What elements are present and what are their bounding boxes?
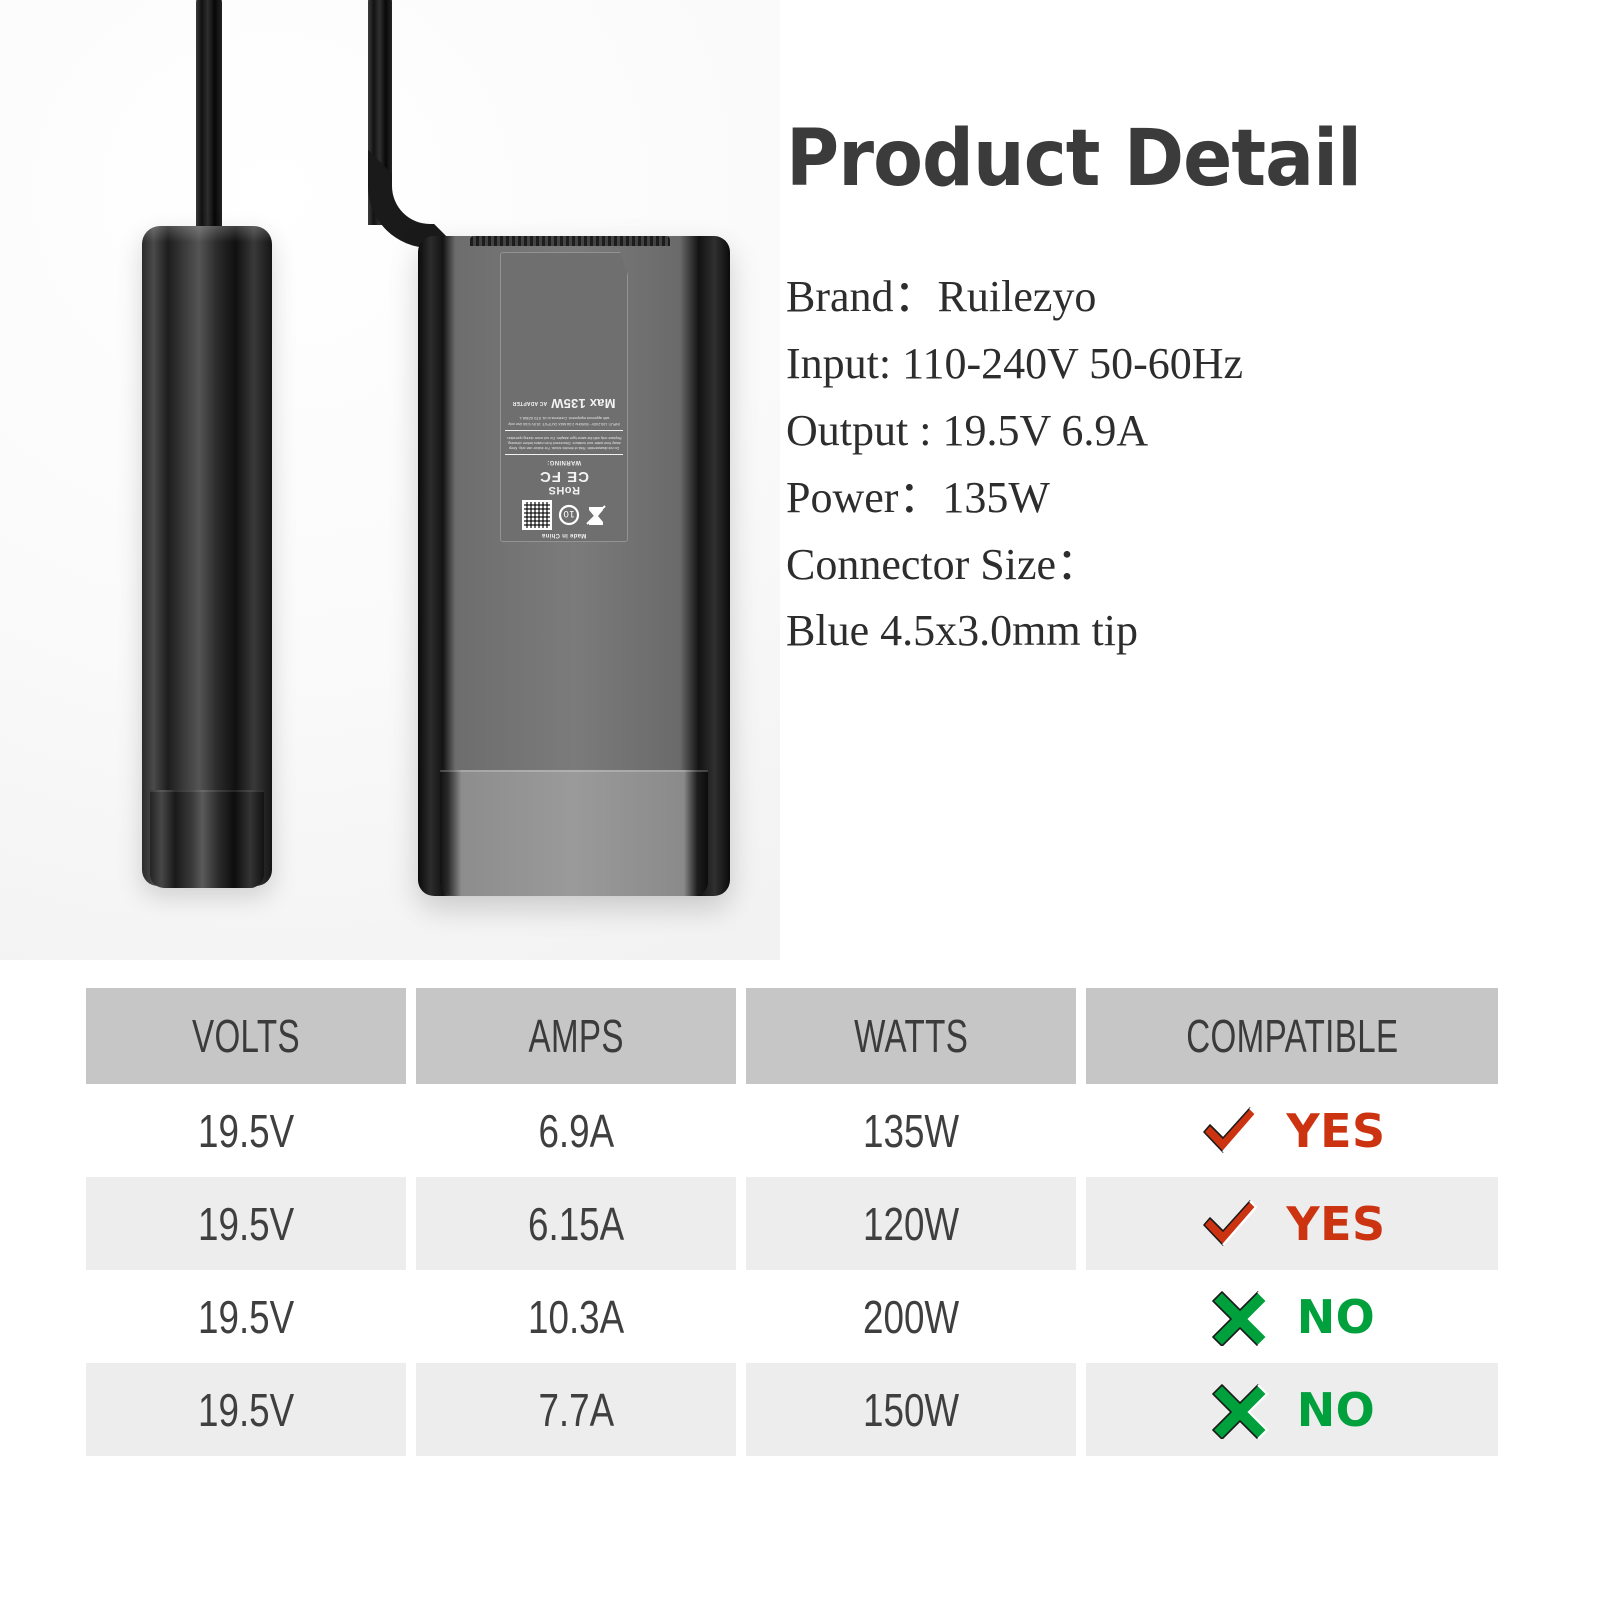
table-header-row: VOLTS AMPS WATTS COMPATIBLE [86,988,1498,1084]
cross-mark-icon [1209,1288,1271,1346]
column-header-watts: WATTS [746,988,1076,1084]
label-fine-print-2: INPUT: 100-240V~ 50/60Hz 2.0A MAX OUTPUT… [501,415,627,425]
compatibility-table: VOLTS AMPS WATTS COMPATIBLE 19.5V 6.9A 1… [86,988,1498,1456]
label-rohs: RoHS [501,484,627,496]
ac-adapter-bottom-band [440,770,708,896]
cell-watts: 120W [746,1177,1076,1270]
cell-volts: 19.5V [86,1084,406,1177]
cell-watts: 135W [746,1084,1076,1177]
column-header-watts-label: WATTS [854,1009,968,1063]
spec-line-input: Input: 110-240V 50-60Hz [786,331,1586,398]
column-header-volts-label: VOLTS [192,1009,300,1063]
column-header-compatible-label: COMPATIBLE [1186,1009,1398,1063]
cell-amps: 7.7A [416,1363,736,1456]
label-model: Max 135W AC ADAPTER [501,396,627,411]
label-warning: WARNING: [501,459,627,465]
spec-line-brand: Brand：Ruilezyo [786,264,1586,331]
cell-volts: 19.5V [86,1363,406,1456]
cell-amps: 6.15A [416,1177,736,1270]
ac-adapter-label: Made in China 10 RoHS CE FC WARNING: Do … [500,252,628,542]
label-made-in: Made in China [501,532,627,538]
spec-list: Brand：Ruilezyo Input: 110-240V 50-60Hz O… [786,264,1586,665]
table-row: 19.5V 6.9A 135W YES [86,1084,1498,1177]
dc-barrel-connector [142,226,272,886]
table-row: 19.5V 10.3A 200W NO [86,1270,1498,1363]
table-row: 19.5V 6.15A 120W YES [86,1177,1498,1270]
spec-line-connector-size: Connector Size： [786,532,1586,599]
weee-bin-icon [586,503,606,527]
svg-text:10: 10 [563,508,575,518]
ac-adapter-vent [470,236,670,246]
cell-volts: 19.5V [86,1177,406,1270]
label-model-suffix: AC ADAPTER [513,400,548,406]
label-certification-icons: 10 [501,500,627,530]
column-header-compatible: COMPATIBLE [1086,988,1498,1084]
verdict-label: NO [1297,1290,1376,1344]
cell-compatible: YES [1086,1177,1498,1270]
cell-watts: 150W [746,1363,1076,1456]
column-header-amps: AMPS [416,988,736,1084]
verdict-label: YES [1286,1104,1385,1158]
spec-line-tip: Blue 4.5x3.0mm tip [786,598,1586,665]
dc-cable [196,0,222,250]
label-certs: CE FC [501,468,627,484]
cross-mark-icon [1209,1381,1271,1439]
label-divider-bottom [505,430,623,431]
spec-line-output: Output : 19.5V 6.9A [786,398,1586,465]
verdict-label: NO [1297,1383,1376,1437]
check-mark-icon [1198,1102,1260,1160]
check-mark-icon [1198,1195,1260,1253]
label-model-text: Max 135W [551,396,615,411]
cell-watts: 200W [746,1270,1076,1363]
label-fine-print-1: Do not disassemble. Risk of electric sho… [501,435,627,451]
spec-panel: Product Detail Brand：Ruilezyo Input: 110… [786,120,1586,665]
qr-code-icon [522,500,552,530]
cell-compatible: NO [1086,1270,1498,1363]
cell-amps: 10.3A [416,1270,736,1363]
cell-compatible: NO [1086,1363,1498,1456]
label-divider-top [505,454,623,455]
column-header-amps-label: AMPS [528,1009,623,1063]
cell-compatible: YES [1086,1084,1498,1177]
page-title: Product Detail [786,120,1530,198]
column-header-volts: VOLTS [86,988,406,1084]
cell-amps: 6.9A [416,1084,736,1177]
recycle-10-icon: 10 [558,504,580,526]
spec-line-power: Power：135W [786,465,1586,532]
dc-connector-ferrule [150,790,264,888]
product-photo: Made in China 10 RoHS CE FC WARNING: Do … [0,0,780,960]
verdict-label: YES [1286,1197,1385,1251]
cell-volts: 19.5V [86,1270,406,1363]
table-row: 19.5V 7.7A 150W NO [86,1363,1498,1456]
